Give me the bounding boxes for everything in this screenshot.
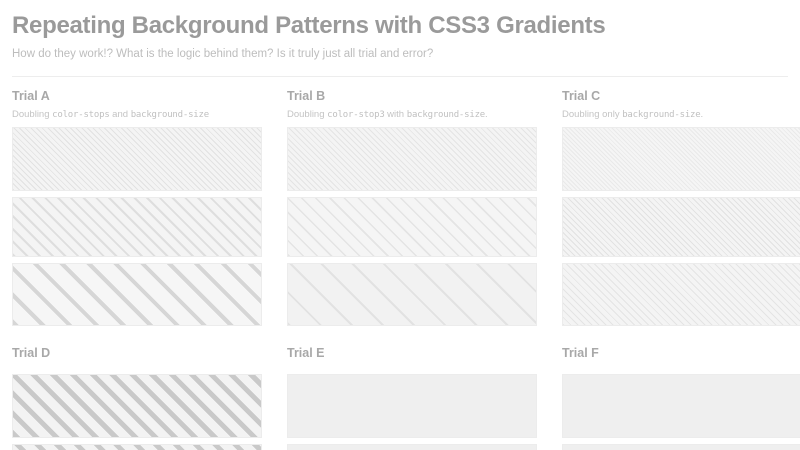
trial-f-heading: Trial F: [562, 346, 800, 361]
trial-b-heading: Trial B: [287, 89, 537, 104]
trial-f-sample-1: [562, 374, 800, 438]
trial-b-sample-2: [287, 197, 537, 257]
trial-b-sample-3: [287, 263, 537, 326]
trial-c-desc-prefix: Doubling only: [562, 109, 622, 120]
trial-a-desc-prefix: Doubling: [12, 109, 52, 120]
trial-e-sample-1: [287, 374, 537, 438]
trial-e-sample-2: [287, 444, 537, 450]
trial-a-heading: Trial A: [12, 89, 262, 104]
trial-b-desc-code-2: background-size: [407, 110, 485, 120]
trial-e-description-spacer: [287, 366, 537, 368]
trial-d-sample-2: [12, 444, 262, 450]
trial-d-heading: Trial D: [12, 346, 262, 361]
trial-d-description-spacer: [12, 366, 262, 368]
trial-a-sample-2: [12, 197, 262, 257]
trial-b-sample-1: [287, 127, 537, 191]
trial-f-sample-2: [562, 444, 800, 450]
trial-b-desc-code-1: color-stop3: [327, 110, 384, 120]
trial-card-c: Trial C Doubling only background-size.: [562, 89, 800, 333]
trial-a-desc-middle: and: [110, 109, 131, 120]
page-header: Repeating Background Patterns with CSS3 …: [0, 0, 800, 62]
trial-c-sample-2: [562, 197, 800, 257]
trial-b-desc-suffix: .: [485, 109, 488, 120]
trial-c-sample-1: [562, 127, 800, 191]
trial-card-d: Trial D: [12, 346, 262, 450]
trial-f-description-spacer: [562, 366, 800, 368]
trial-card-a: Trial A Doubling color-stops and backgro…: [12, 89, 262, 333]
trial-b-description: Doubling color-stop3 with background-siz…: [287, 109, 537, 122]
trial-card-f: Trial F: [562, 346, 800, 450]
trial-grid-row-two: Trial D Trial E Trial F: [0, 346, 800, 450]
trial-c-desc-suffix: .: [701, 109, 704, 120]
demo-page: Repeating Background Patterns with CSS3 …: [0, 0, 800, 450]
trial-b-desc-prefix: Doubling: [287, 109, 327, 120]
trial-card-b: Trial B Doubling color-stop3 with backgr…: [287, 89, 537, 333]
trial-a-desc-code-2: background-size: [131, 110, 209, 120]
trial-a-description: Doubling color-stops and background-size: [12, 109, 262, 122]
trial-card-e: Trial E: [287, 346, 537, 450]
trial-grid-row-one: Trial A Doubling color-stops and backgro…: [0, 89, 800, 333]
page-subtitle: How do they work!? What is the logic beh…: [12, 47, 788, 62]
trial-a-desc-code-1: color-stops: [52, 110, 109, 120]
trial-d-sample-1: [12, 374, 262, 438]
page-title: Repeating Background Patterns with CSS3 …: [12, 12, 788, 40]
trial-c-desc-code-1: background-size: [622, 110, 700, 120]
trial-e-heading: Trial E: [287, 346, 537, 361]
trial-b-desc-middle: with: [385, 109, 407, 120]
header-divider: [12, 76, 788, 77]
trial-a-sample-3: [12, 263, 262, 326]
trial-a-sample-1: [12, 127, 262, 191]
trial-c-heading: Trial C: [562, 89, 800, 104]
trial-c-description: Doubling only background-size.: [562, 109, 800, 122]
trial-c-sample-3: [562, 263, 800, 326]
